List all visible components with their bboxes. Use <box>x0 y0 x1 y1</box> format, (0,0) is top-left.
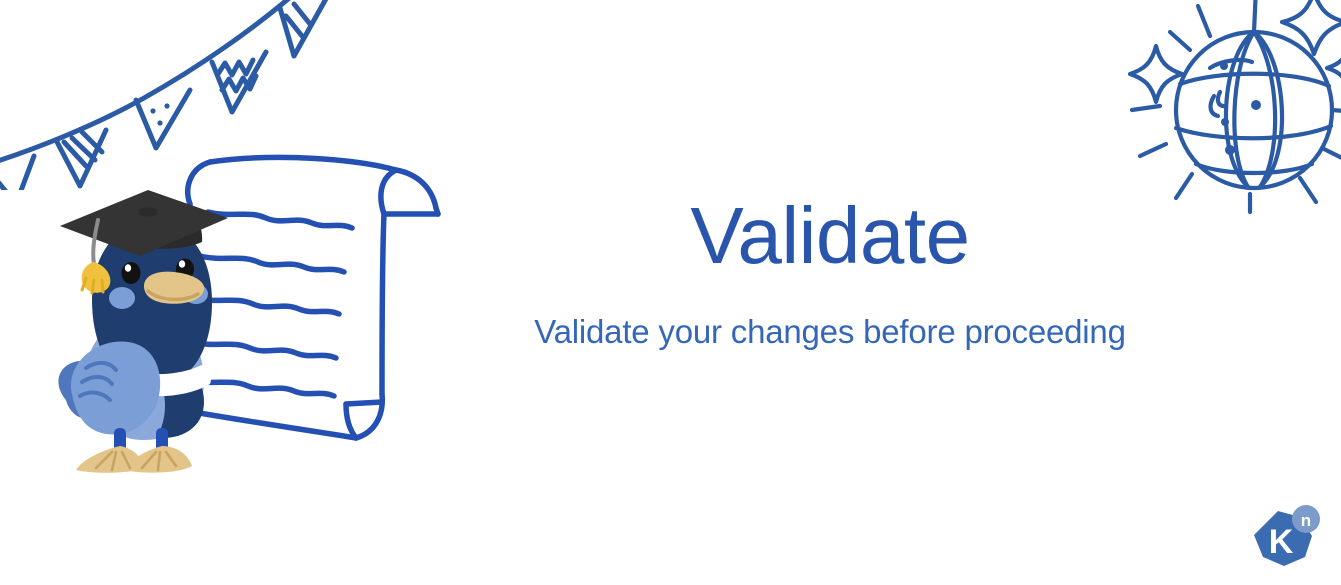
logo-letter-k: K <box>1269 523 1294 561</box>
disco-ball-icon <box>1118 0 1341 223</box>
logo-letter-n: n <box>1301 511 1311 530</box>
graduate-bird-icon <box>52 190 232 475</box>
page-subtitle: Validate your changes before proceeding <box>405 312 1255 352</box>
kn-logo-icon: K n <box>1248 503 1324 575</box>
party-bunting-icon <box>0 0 344 190</box>
slide-canvas: Validate Validate your changes before pr… <box>0 0 1341 585</box>
hero-text-block: Validate Validate your changes before pr… <box>405 196 1255 352</box>
page-title: Validate <box>405 196 1255 276</box>
